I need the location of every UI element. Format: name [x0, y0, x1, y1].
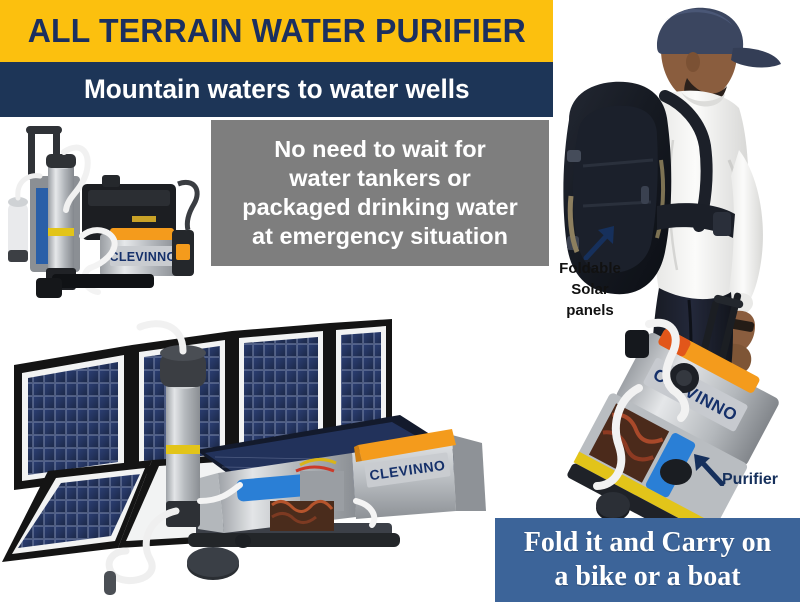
grey-callout-line-4: at emergency situation	[252, 222, 508, 251]
banner-title-band: ALL TERRAIN WATER PURIFIER	[0, 0, 553, 62]
poster-root: CLEVINNO	[0, 0, 800, 602]
annotation-solar-line-3: panels	[551, 300, 629, 321]
annotation-purifier: Purifier	[722, 471, 778, 489]
grey-callout-box: No need to wait for water tankers or pac…	[211, 120, 549, 266]
annotation-solar-line-2: Solar	[551, 279, 629, 300]
annotation-purifier-line-1: Purifier	[722, 471, 778, 489]
photo-unfolded-solar-array: CLEVINNO	[0, 305, 520, 602]
banner-subtitle-band: Mountain waters to water wells	[0, 62, 553, 117]
svg-text:CLEVINNO: CLEVINNO	[110, 250, 177, 264]
annotation-foldable-solar-panels: Foldable Solar panels	[551, 258, 629, 321]
page-title: ALL TERRAIN WATER PURIFIER	[27, 12, 525, 50]
blue-callout-line-1: Fold it and Carry on	[524, 526, 771, 560]
blue-callout-line-2: a bike or a boat	[554, 560, 740, 594]
grey-callout-line-3: packaged drinking water	[242, 193, 518, 222]
arrow-up-right-icon	[580, 224, 620, 260]
grey-callout-line-1: No need to wait for	[274, 135, 486, 164]
annotation-solar-line-1: Foldable	[551, 258, 629, 279]
page-subtitle: Mountain waters to water wells	[84, 74, 470, 105]
grey-callout-line-2: water tankers or	[289, 164, 471, 193]
blue-callout-box: Fold it and Carry on a bike or a boat	[495, 518, 800, 602]
photo-backpack-purifier-unit: CLEVINNO	[6, 118, 206, 308]
